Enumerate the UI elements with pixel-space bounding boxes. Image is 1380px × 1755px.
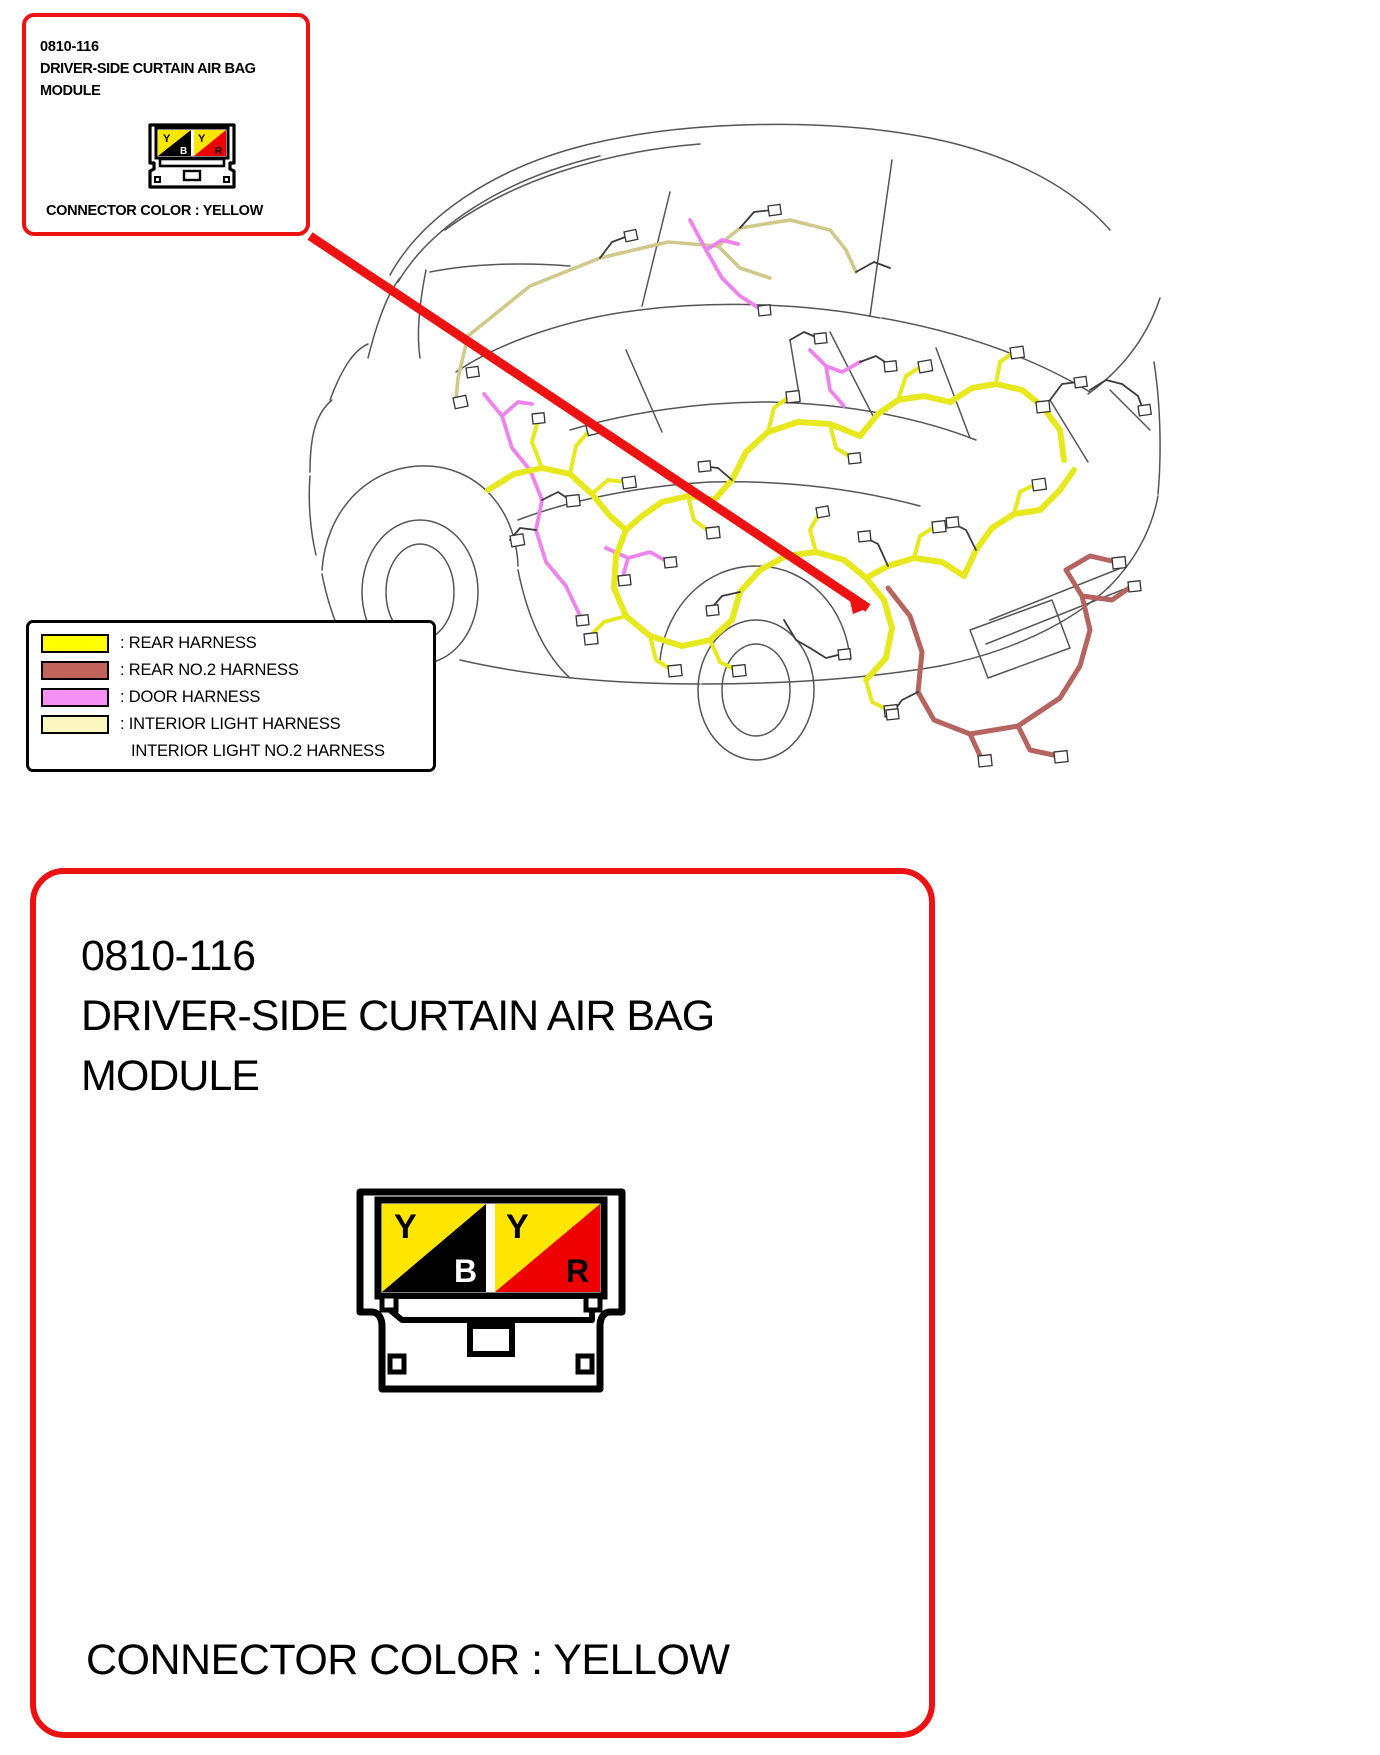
connector-icon-large: Y B Y R: [346, 1184, 636, 1399]
detail-code: 0810-116: [81, 932, 256, 981]
legend-item-continuation: INTERIOR LIGHT NO.2 HARNESS: [41, 738, 433, 765]
svg-text:Y: Y: [506, 1208, 529, 1246]
svg-text:B: B: [180, 146, 187, 157]
svg-text:R: R: [215, 146, 223, 157]
svg-text:R: R: [566, 1253, 589, 1289]
harness-legend: : REAR HARNESS : REAR NO.2 HARNESS : DOO…: [26, 620, 436, 772]
legend-label-rear-no2-harness: : REAR NO.2 HARNESS: [120, 661, 299, 680]
legend-label-interior-light-no2-harness: INTERIOR LIGHT NO.2 HARNESS: [131, 742, 385, 761]
legend-item: : INTERIOR LIGHT HARNESS: [41, 711, 433, 738]
legend-item: : REAR HARNESS: [41, 630, 433, 657]
svg-text:Y: Y: [198, 133, 206, 145]
legend-label-door-harness: : DOOR HARNESS: [120, 688, 260, 707]
bottom-detail-box: 0810-116 DRIVER-SIDE CURTAIN AIR BAG MOD…: [30, 868, 935, 1738]
legend-label-rear-harness: : REAR HARNESS: [120, 634, 257, 653]
top-callout-code: 0810-116: [40, 39, 99, 55]
detail-name-line2: MODULE: [81, 1052, 259, 1101]
connector-icon-small: Y B Y R: [144, 121, 240, 191]
legend-swatch-door-harness: [41, 688, 109, 707]
svg-text:Y: Y: [163, 133, 171, 145]
top-callout-name-line1: DRIVER-SIDE CURTAIN AIR BAG: [40, 61, 256, 77]
legend-label-interior-light-harness: : INTERIOR LIGHT HARNESS: [120, 715, 340, 734]
legend-swatch-interior-light-harness: [41, 715, 109, 734]
legend-swatch-rear-harness: [41, 634, 109, 653]
legend-swatch-rear-no2-harness: [41, 661, 109, 680]
legend-item: : DOOR HARNESS: [41, 684, 433, 711]
svg-text:B: B: [454, 1253, 477, 1289]
detail-name-line1: DRIVER-SIDE CURTAIN AIR BAG: [81, 992, 714, 1041]
top-callout-name-line2: MODULE: [40, 83, 100, 99]
top-callout-box: 0810-116 DRIVER-SIDE CURTAIN AIR BAG MOD…: [22, 13, 310, 236]
top-callout-connector-color: CONNECTOR COLOR : YELLOW: [46, 203, 263, 219]
svg-text:Y: Y: [394, 1208, 417, 1246]
detail-connector-color: CONNECTOR COLOR : YELLOW: [86, 1636, 729, 1685]
legend-item: : REAR NO.2 HARNESS: [41, 657, 433, 684]
